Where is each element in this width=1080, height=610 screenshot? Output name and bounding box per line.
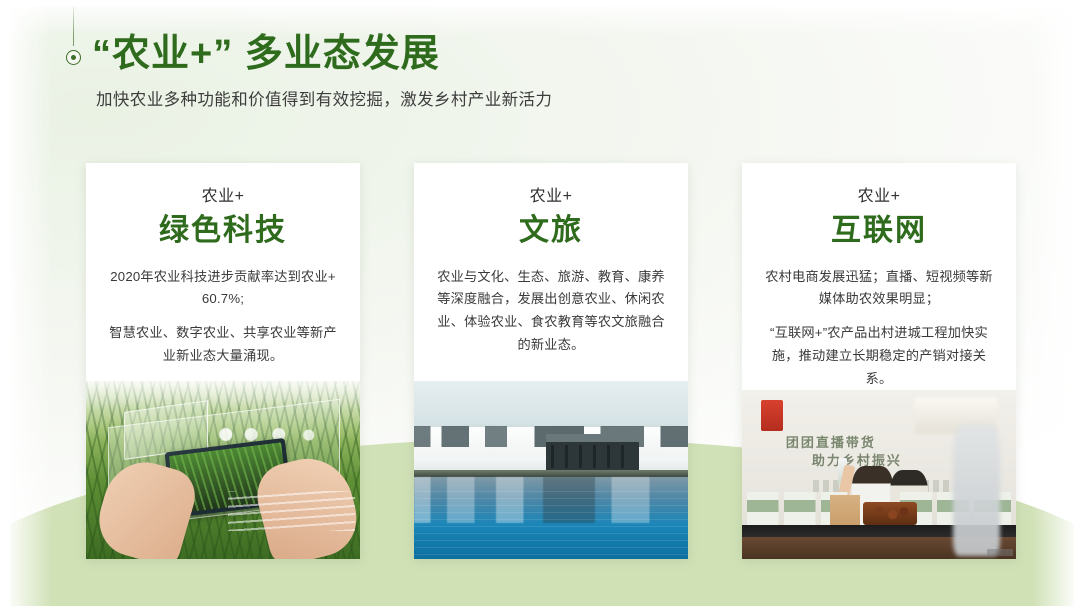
- page-subtitle: 加快农业多种功能和价值得到有效挖掘，激发乡村产业新活力: [96, 89, 952, 112]
- livestream-banner-text: 团团直播带货 助力乡村振兴: [786, 434, 978, 469]
- card-culture-tourism[interactable]: 农业+ 文旅 农业与文化、生态、旅游、教育、康养等深度融合，发展出创意农业、休闲…: [414, 163, 688, 559]
- card-heading: 绿色科技: [104, 213, 342, 250]
- card-internet[interactable]: 农业+ 互联网 农村电商发展迅猛；直播、短视频等新媒体助农效果明显； “互联网+…: [742, 163, 1016, 559]
- card-kicker: 农业+: [432, 187, 670, 206]
- card-paragraph: “互联网+”农产品出村进城工程加快实施，推动建立长期稳定的产销对接关系。: [760, 322, 998, 390]
- banner-line-1: 团团直播带货: [786, 434, 978, 452]
- cards-row: 农业+ 绿色科技 2020年农业科技进步贡献率达到农业+ 60.7%; 智慧农业…: [86, 163, 1016, 559]
- photo-watermark: [987, 549, 1013, 556]
- card-text-block: 农业+ 绿色科技 2020年农业科技进步贡献率达到农业+ 60.7%; 智慧农业…: [86, 163, 360, 368]
- card-heading: 文旅: [432, 213, 670, 250]
- red-logo-icon: [761, 400, 783, 430]
- photo-artwork: [86, 381, 360, 559]
- water-village-tourism-photo: [414, 381, 688, 559]
- photo-artwork: 团团直播带货 助力乡村振兴: [742, 390, 1016, 559]
- slide-header: “农业+” 多业态发展 加快农业多种功能和价值得到有效挖掘，激发乡村产业新活力: [92, 32, 952, 112]
- card-paragraph: 智慧农业、数字农业、共享农业等新产业新业态大量涌现。: [104, 322, 342, 367]
- card-text-block: 农业+ 文旅 农业与文化、生态、旅游、教育、康养等深度融合，发展出创意农业、休闲…: [414, 163, 688, 357]
- card-text-block: 农业+ 互联网 农村电商发展迅猛；直播、短视频等新媒体助农效果明显； “互联网+…: [742, 163, 1016, 390]
- vertical-line-icon: [73, 6, 74, 46]
- card-paragraphs: 农业与文化、生态、旅游、教育、康养等深度融合，发展出创意农业、休闲农业、体验农业…: [432, 266, 670, 357]
- card-green-technology[interactable]: 农业+ 绿色科技 2020年农业科技进步贡献率达到农业+ 60.7%; 智慧农业…: [86, 163, 360, 559]
- card-kicker: 农业+: [104, 187, 342, 206]
- card-heading: 互联网: [760, 213, 998, 250]
- decorative-pin: [63, 6, 85, 70]
- card-paragraph: 2020年农业科技进步贡献率达到农业+ 60.7%;: [104, 266, 342, 311]
- card-paragraph: 农村电商发展迅猛；直播、短视频等新媒体助农效果明显；: [760, 266, 998, 311]
- card-paragraphs: 农村电商发展迅猛；直播、短视频等新媒体助农效果明显； “互联网+”农产品出村进城…: [760, 266, 998, 391]
- slide-canvas: “农业+” 多业态发展 加快农业多种功能和价值得到有效挖掘，激发乡村产业新活力 …: [10, 6, 1074, 606]
- card-paragraphs: 2020年农业科技进步贡献率达到农业+ 60.7%; 智慧农业、数字农业、共享农…: [104, 266, 342, 368]
- slide-root: “农业+” 多业态发展 加快农业多种功能和价值得到有效挖掘，激发乡村产业新活力 …: [0, 0, 1080, 610]
- card-paragraph: 农业与文化、生态、旅游、教育、康养等深度融合，发展出创意农业、休闲农业、体验农业…: [432, 266, 670, 357]
- smart-agriculture-tablet-photo: [86, 381, 360, 559]
- card-kicker: 农业+: [760, 187, 998, 206]
- circle-dot-icon: [66, 50, 81, 65]
- livestream-ecommerce-photo: 团团直播带货 助力乡村振兴: [742, 390, 1016, 559]
- photo-artwork: [414, 381, 688, 559]
- page-title: “农业+” 多业态发展: [92, 32, 952, 77]
